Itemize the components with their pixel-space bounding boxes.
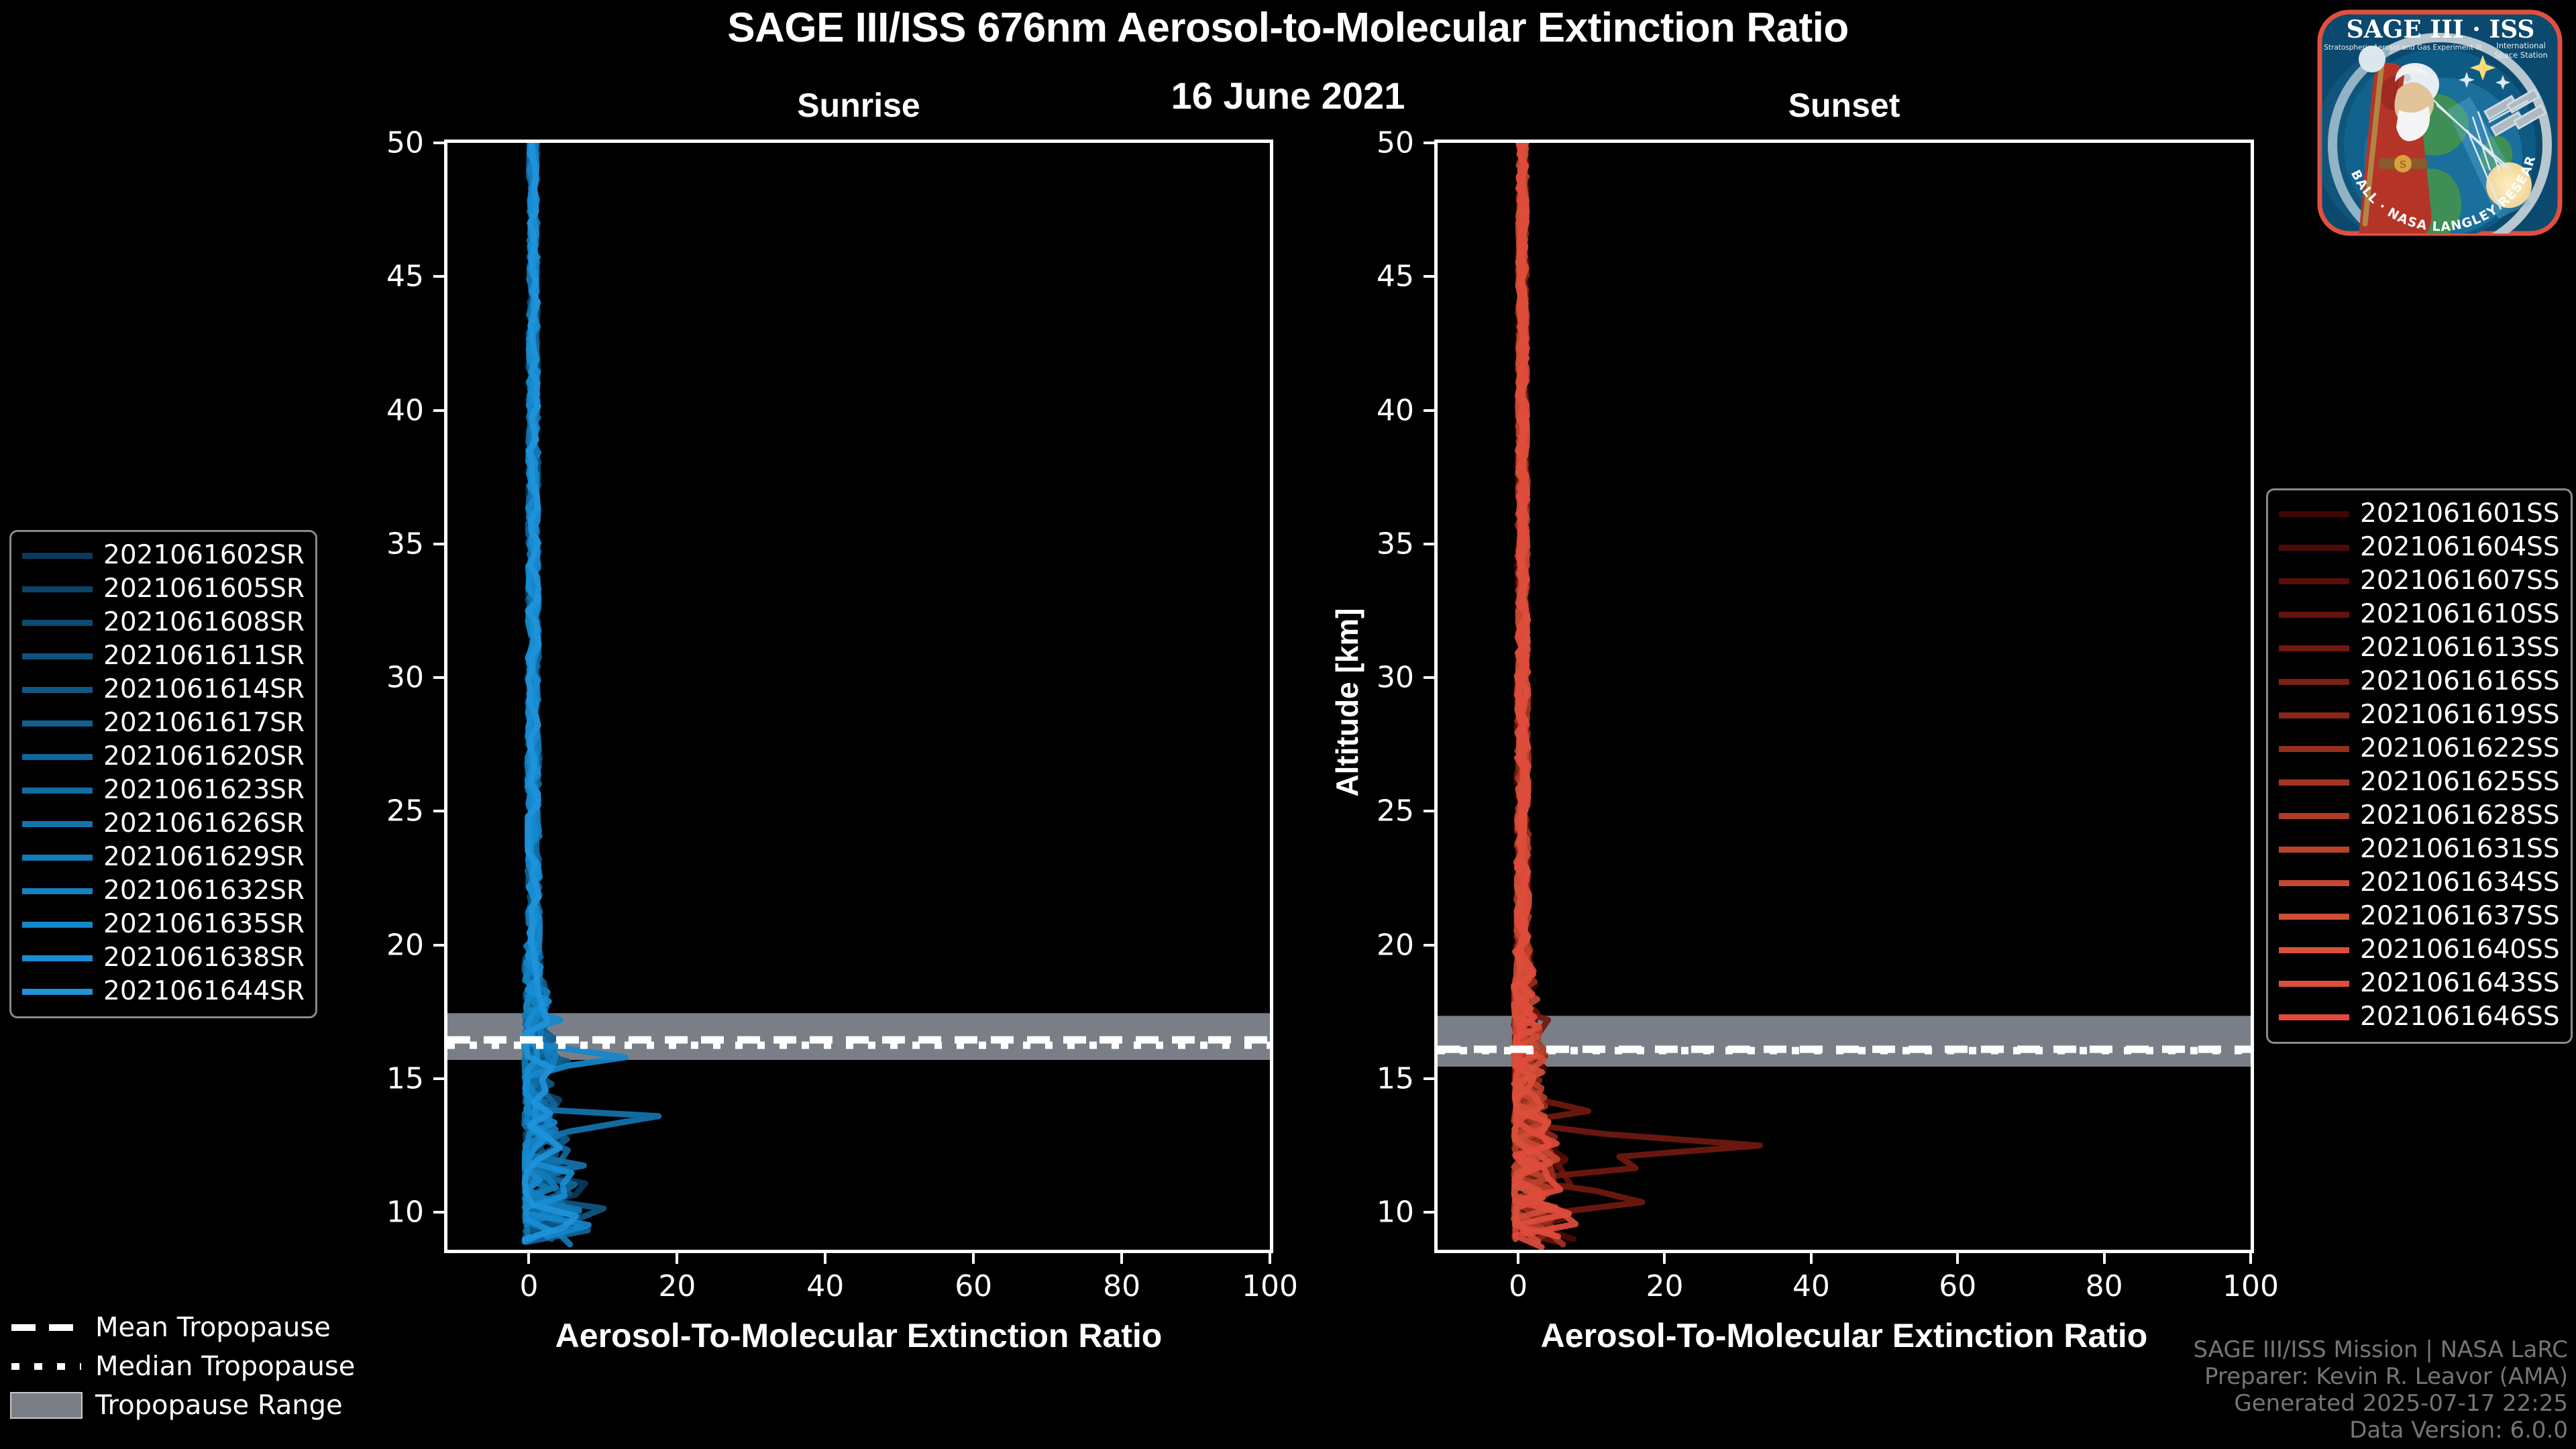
legend-color-swatch <box>22 955 93 961</box>
y-tick-mark <box>1424 676 1434 679</box>
legend-item[interactable]: 2021061608SR <box>22 606 305 639</box>
x-tick-label: 0 <box>1509 1269 1527 1303</box>
legend-series-label: 2021061631SS <box>2360 833 2560 866</box>
legend-item[interactable]: 2021061617SR <box>22 706 305 740</box>
legend-series-label: 2021061604SS <box>2360 531 2560 564</box>
legend-item-median-tropopause: Median Tropopause <box>9 1347 355 1386</box>
credits-line-preparer: Preparer: Kevin R. Leavor (AMA) <box>2193 1363 2568 1390</box>
tropopause-range-label: Tropopause Range <box>95 1390 343 1421</box>
page-title: SAGE III/ISS 676nm Aerosol-to-Molecular … <box>0 4 2576 52</box>
legend-item[interactable]: 2021061643SS <box>2279 967 2560 1000</box>
y-tick-mark <box>1424 810 1434 812</box>
profile-line <box>1514 143 1760 1236</box>
tropopause-legend: Mean Tropopause Median Tropopause Tropop… <box>9 1308 355 1425</box>
legend-color-swatch <box>22 754 93 760</box>
x-tick-label: 20 <box>658 1269 696 1303</box>
legend-color-swatch <box>22 922 93 928</box>
legend-color-swatch <box>2279 545 2349 551</box>
legend-color-swatch <box>22 821 93 827</box>
sunset-plot-canvas <box>1438 143 2251 1250</box>
y-tick-mark <box>1424 1077 1434 1080</box>
legend-color-swatch <box>2279 780 2349 786</box>
legend-series-label: 2021061620SR <box>103 740 305 773</box>
sunset-y-axis-label: Altitude [km] <box>1329 541 1365 863</box>
legend-series-label: 2021061602SR <box>103 539 305 572</box>
x-tick-label: 40 <box>806 1269 844 1303</box>
sunrise-x-axis-label: Aerosol-To-Molecular Extinction Ratio <box>444 1316 1273 1355</box>
legend-item[interactable]: 2021061613SS <box>2279 631 2560 665</box>
sunset-profile-curves <box>1438 143 2251 1250</box>
legend-item[interactable]: 2021061604SS <box>2279 531 2560 564</box>
legend-series-label: 2021061611SR <box>103 639 305 673</box>
y-tick-label: 45 <box>337 260 424 294</box>
legend-color-swatch <box>2279 914 2349 920</box>
legend-series-label: 2021061628SS <box>2360 799 2560 833</box>
legend-series-label: 2021061638SR <box>103 941 305 975</box>
y-tick-label: 50 <box>337 126 424 160</box>
legend-item[interactable]: 2021061601SS <box>2279 497 2560 531</box>
y-tick-label: 45 <box>1327 260 1414 294</box>
legend-color-swatch <box>22 855 93 861</box>
legend-color-swatch <box>22 888 93 894</box>
legend-item-mean-tropopause: Mean Tropopause <box>9 1308 355 1347</box>
credits-block: SAGE III/ISS Mission | NASA LaRC Prepare… <box>2193 1336 2568 1444</box>
credits-line-mission: SAGE III/ISS Mission | NASA LaRC <box>2193 1336 2568 1363</box>
logo-title: SAGE III · ISS <box>2347 15 2535 44</box>
median-tropopause-label: Median Tropopause <box>95 1351 355 1382</box>
x-tick-mark <box>824 1253 826 1264</box>
sunset-series-legend[interactable]: 2021061601SS 2021061604SS 2021061607SS 2… <box>2266 488 2573 1044</box>
x-tick-label: 100 <box>1242 1269 1298 1303</box>
x-tick-mark <box>676 1253 678 1264</box>
y-tick-label: 10 <box>337 1195 424 1230</box>
legend-item[interactable]: 2021061611SR <box>22 639 305 673</box>
credits-line-version: Data Version: 6.0.0 <box>2193 1417 2568 1444</box>
y-tick-mark <box>433 944 444 947</box>
x-tick-label: 100 <box>2222 1269 2279 1303</box>
y-tick-label: 35 <box>337 527 424 561</box>
legend-item[interactable]: 2021061622SS <box>2279 732 2560 765</box>
legend-color-swatch <box>2279 746 2349 752</box>
legend-color-swatch <box>22 788 93 794</box>
legend-series-label: 2021061610SS <box>2360 598 2560 631</box>
logo-subtitle-left: Stratospheric Aerosol and Gas Experiment… <box>2324 44 2482 52</box>
legend-series-label: 2021061646SS <box>2360 1000 2560 1034</box>
x-tick-mark <box>1269 1253 1271 1264</box>
legend-color-swatch <box>22 620 93 626</box>
legend-item[interactable]: 2021061631SS <box>2279 833 2560 866</box>
legend-item[interactable]: 2021061629SR <box>22 841 305 874</box>
y-tick-mark <box>1424 1211 1434 1214</box>
legend-color-swatch <box>22 989 93 995</box>
x-tick-label: 60 <box>1939 1269 1976 1303</box>
x-tick-label: 0 <box>519 1269 538 1303</box>
legend-item[interactable]: 2021061638SR <box>22 941 305 975</box>
legend-series-label: 2021061634SS <box>2360 866 2560 900</box>
legend-color-swatch <box>22 553 93 559</box>
legend-series-label: 2021061616SS <box>2360 665 2560 698</box>
legend-color-swatch <box>2279 578 2349 584</box>
legend-item[interactable]: 2021061628SS <box>2279 799 2560 833</box>
y-tick-label: 50 <box>1327 126 1414 160</box>
legend-item[interactable]: 2021061637SS <box>2279 900 2560 933</box>
legend-color-swatch <box>22 586 93 592</box>
y-tick-label: 15 <box>337 1061 424 1095</box>
x-tick-label: 60 <box>955 1269 992 1303</box>
legend-series-label: 2021061614SR <box>103 673 305 706</box>
x-tick-mark <box>2103 1253 2106 1264</box>
legend-series-label: 2021061623SR <box>103 773 305 807</box>
y-tick-mark <box>1424 275 1434 278</box>
legend-color-swatch <box>2279 645 2349 651</box>
x-tick-mark <box>1956 1253 1959 1264</box>
x-tick-label: 80 <box>2086 1269 2123 1303</box>
legend-item[interactable]: 2021061620SR <box>22 740 305 773</box>
y-tick-label: 30 <box>337 661 424 695</box>
legend-color-swatch <box>22 720 93 727</box>
legend-color-swatch <box>2279 947 2349 953</box>
legend-item[interactable]: 2021061610SS <box>2279 598 2560 631</box>
legend-item[interactable]: 2021061619SS <box>2279 698 2560 732</box>
dashed-line-icon <box>9 1316 83 1339</box>
legend-item[interactable]: 2021061646SS <box>2279 1000 2560 1034</box>
y-tick-mark <box>433 142 444 144</box>
legend-series-label: 2021061605SR <box>103 572 305 606</box>
legend-color-swatch <box>22 653 93 659</box>
sunset-plot-area[interactable] <box>1434 140 2254 1253</box>
sunset-panel-title: Sunset <box>1434 86 2254 125</box>
y-tick-mark <box>433 1211 444 1214</box>
y-tick-mark <box>433 1077 444 1080</box>
x-tick-mark <box>1810 1253 1813 1264</box>
svg-text:S: S <box>2400 160 2406 170</box>
legend-item[interactable]: 2021061623SR <box>22 773 305 807</box>
y-tick-label: 25 <box>337 794 424 828</box>
sunrise-series-legend[interactable]: 2021061602SR 2021061605SR 2021061608SR 2… <box>9 530 317 1018</box>
legend-color-swatch <box>22 687 93 693</box>
legend-item[interactable]: 2021061614SR <box>22 673 305 706</box>
sunrise-profile-curves <box>447 143 1270 1250</box>
tropopause-range-band <box>1438 1016 2251 1067</box>
sunrise-panel-title: Sunrise <box>444 86 1273 125</box>
x-tick-mark <box>1663 1253 1666 1264</box>
legend-series-label: 2021061601SS <box>2360 497 2560 531</box>
x-tick-mark <box>527 1253 530 1264</box>
sage3-iss-logo: S SAGE III · ISS Stratospheric Aerosol a… <box>2309 3 2571 252</box>
legend-series-label: 2021061607SS <box>2360 564 2560 598</box>
legend-color-swatch <box>2279 880 2349 886</box>
legend-series-label: 2021061617SR <box>103 706 305 740</box>
sunset-x-axis-label: Aerosol-To-Molecular Extinction Ratio <box>1434 1316 2254 1355</box>
legend-series-label: 2021061632SR <box>103 874 305 908</box>
legend-color-swatch <box>2279 847 2349 853</box>
legend-item[interactable]: 2021061607SS <box>2279 564 2560 598</box>
mean-tropopause-label: Mean Tropopause <box>95 1312 331 1343</box>
x-tick-mark <box>2249 1253 2252 1264</box>
legend-series-label: 2021061640SS <box>2360 933 2560 967</box>
y-tick-label: 20 <box>1327 928 1414 962</box>
y-tick-mark <box>1424 409 1434 412</box>
x-tick-mark <box>1517 1253 1519 1264</box>
legend-series-label: 2021061625SS <box>2360 765 2560 799</box>
y-tick-mark <box>1424 944 1434 947</box>
legend-item[interactable]: 2021061626SR <box>22 807 305 841</box>
legend-color-swatch <box>2279 612 2349 618</box>
x-tick-mark <box>972 1253 975 1264</box>
filled-band-icon <box>9 1394 83 1417</box>
x-tick-label: 80 <box>1103 1269 1140 1303</box>
legend-color-swatch <box>2279 511 2349 517</box>
y-tick-label: 20 <box>337 928 424 962</box>
y-tick-mark <box>433 543 444 545</box>
legend-item[interactable]: 2021061602SR <box>22 539 305 572</box>
y-tick-label: 40 <box>1327 393 1414 427</box>
legend-item[interactable]: 2021061640SS <box>2279 933 2560 967</box>
legend-series-label: 2021061629SR <box>103 841 305 874</box>
legend-item[interactable]: 2021061625SS <box>2279 765 2560 799</box>
legend-series-label: 2021061643SS <box>2360 967 2560 1000</box>
y-tick-label: 10 <box>1327 1195 1414 1230</box>
legend-item[interactable]: 2021061634SS <box>2279 866 2560 900</box>
credits-line-generated: Generated 2025-07-17 22:25 <box>2193 1390 2568 1417</box>
legend-series-label: 2021061622SS <box>2360 732 2560 765</box>
y-tick-mark <box>433 409 444 412</box>
mission-patch-icon: S SAGE III · ISS Stratospheric Aerosol a… <box>2309 3 2571 252</box>
x-tick-mark <box>1120 1253 1123 1264</box>
y-tick-mark <box>433 810 444 812</box>
legend-color-swatch <box>2279 813 2349 819</box>
legend-series-label: 2021061635SR <box>103 908 305 941</box>
sunrise-plot-canvas <box>447 143 1270 1250</box>
legend-series-label: 2021061608SR <box>103 606 305 639</box>
legend-series-label: 2021061613SS <box>2360 631 2560 665</box>
legend-color-swatch <box>2279 712 2349 718</box>
sunrise-plot-area[interactable] <box>444 140 1273 1253</box>
legend-series-label: 2021061644SR <box>103 975 305 1008</box>
legend-item[interactable]: 2021061616SS <box>2279 665 2560 698</box>
legend-color-swatch <box>2279 1014 2349 1020</box>
y-tick-mark <box>1424 142 1434 144</box>
y-tick-mark <box>1424 543 1434 545</box>
dotted-line-icon <box>9 1355 83 1378</box>
legend-item[interactable]: 2021061605SR <box>22 572 305 606</box>
y-tick-label: 15 <box>1327 1061 1414 1095</box>
legend-color-swatch <box>2279 679 2349 685</box>
logo-subtitle-right-1: International <box>2496 41 2545 50</box>
y-tick-mark <box>433 275 444 278</box>
legend-item[interactable]: 2021061632SR <box>22 874 305 908</box>
x-tick-label: 20 <box>1646 1269 1683 1303</box>
legend-series-label: 2021061637SS <box>2360 900 2560 933</box>
legend-series-label: 2021061619SS <box>2360 698 2560 732</box>
legend-item-tropopause-range: Tropopause Range <box>9 1386 355 1425</box>
legend-item[interactable]: 2021061644SR <box>22 975 305 1008</box>
legend-color-swatch <box>2279 981 2349 987</box>
x-tick-label: 40 <box>1792 1269 1830 1303</box>
y-tick-mark <box>433 676 444 679</box>
logo-subtitle-right-2: Space Station <box>2494 50 2548 60</box>
legend-item[interactable]: 2021061635SR <box>22 908 305 941</box>
legend-series-label: 2021061626SR <box>103 807 305 841</box>
y-tick-label: 40 <box>337 393 424 427</box>
